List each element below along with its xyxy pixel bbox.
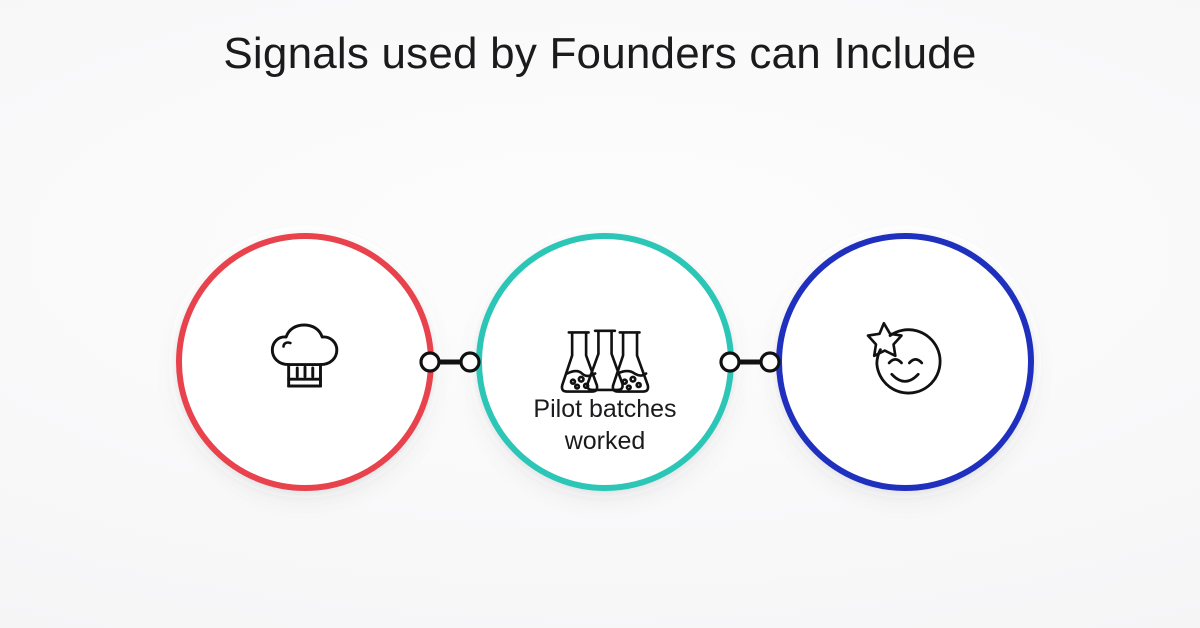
page-title: Signals used by Founders can Include: [0, 28, 1200, 80]
flasks-icon: [476, 233, 734, 491]
node-early-samplers-liked-it[interactable]: Early samplers liked it: [776, 233, 1034, 491]
connector-node2-node3: [718, 347, 782, 382]
infographic-slide: Signals used by Founders can Include: [0, 0, 1200, 628]
smiley-star-icon: [776, 233, 1034, 491]
node-product-tastes-great[interactable]: The product tastes great: [176, 233, 434, 491]
node-pilot-batches-worked[interactable]: Pilot batches worked: [476, 233, 734, 491]
chef-hat-icon: [176, 233, 434, 491]
connector-node1-node2: [418, 347, 482, 382]
